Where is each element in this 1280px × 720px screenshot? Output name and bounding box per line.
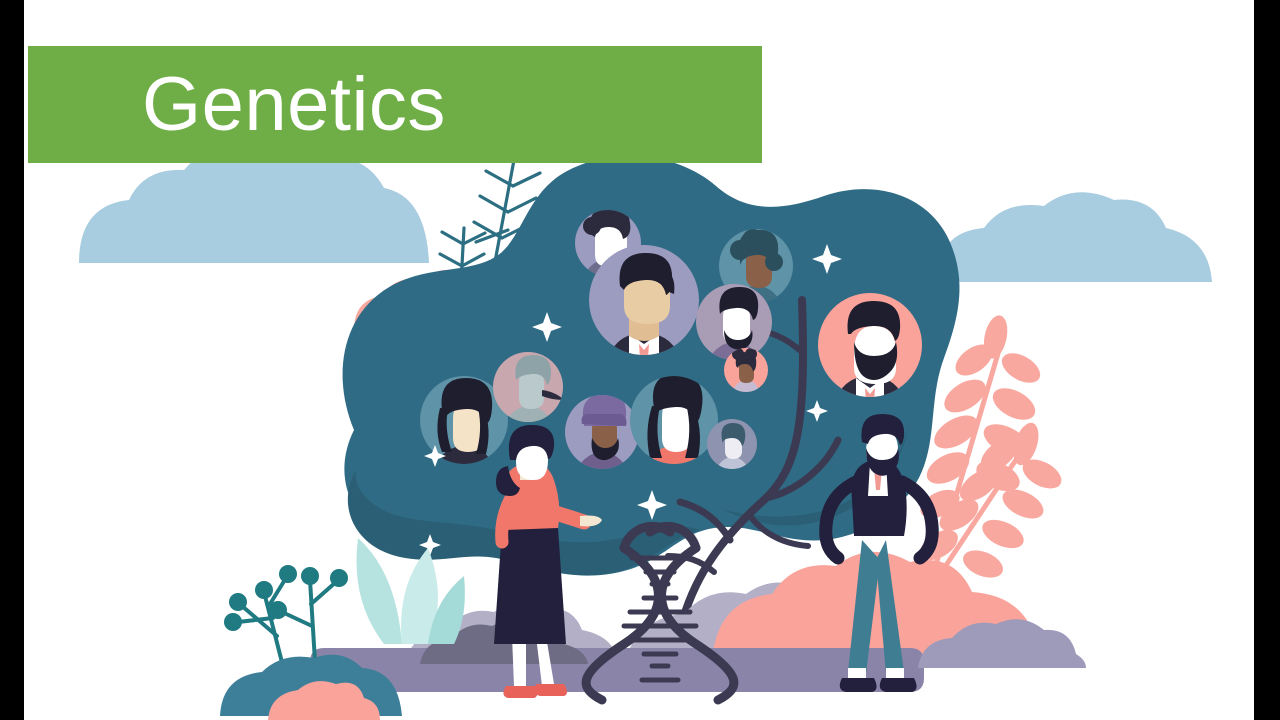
slide-stage: Genetics [0,0,1280,720]
letterbox-bar-right [1254,0,1280,720]
letterbox-bar-left [0,0,24,720]
page-title: Genetics [142,67,446,143]
slide-canvas: Genetics [24,0,1254,720]
ground-band [310,648,924,692]
title-banner: Genetics [28,46,762,163]
